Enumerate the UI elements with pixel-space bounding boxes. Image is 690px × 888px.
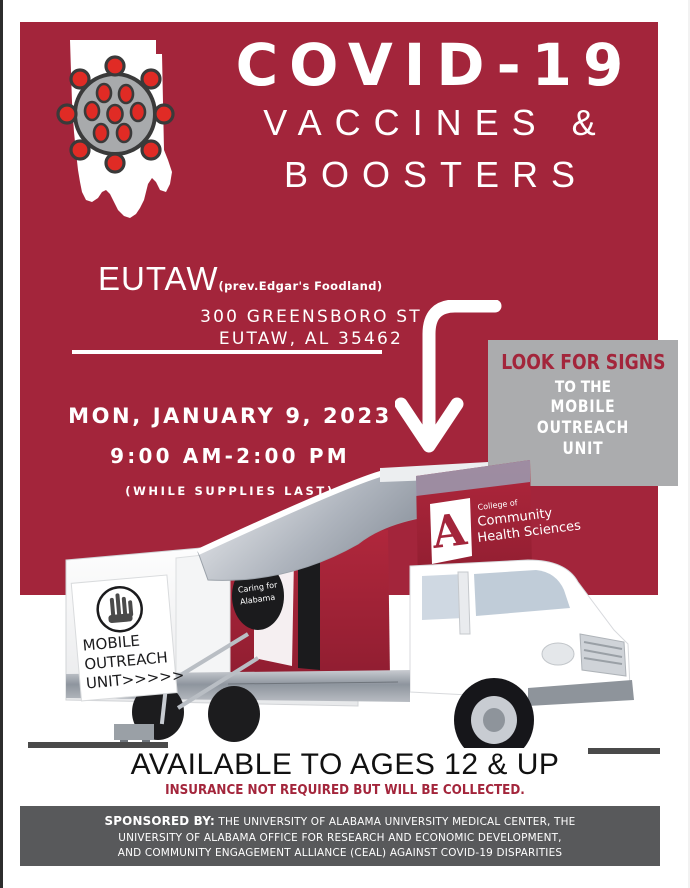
divider-white [72,350,382,354]
sponsor-footer-bar: SPONSORED BY: THE UNIVERSITY OF ALABAMA … [20,806,660,866]
venue-headline: EUTAW(prev.Edgar's Foodland) [98,260,518,298]
venue-previous-name: (prev.Edgar's Foodland) [218,279,382,293]
sponsor-line-2: UNIVERSITY OF ALABAMA OFFICE FOR RESEARC… [36,830,644,846]
flyer-title-block: COVID-19 VACCINES & BOOSTERS [220,34,640,200]
venue-city-state-zip: EUTAW, AL 35462 [98,329,518,349]
sponsor-footer-text: SPONSORED BY: THE UNIVERSITY OF ALABAMA … [36,813,644,861]
callout-line-to-the: TO THE [501,377,664,396]
title-vaccines: VACCINES & [232,96,640,150]
callout-line-look-for-signs: LOOK FOR SIGNS [501,350,664,374]
sponsor-line-3: AND COMMUNITY ENGAGEMENT ALLIANCE (CEAL)… [36,845,644,861]
venue-street: 300 GREENSBORO ST [98,307,518,327]
eligibility-insurance-note: INSURANCE NOT REQUIRED BUT WILL BE COLLE… [28,783,663,798]
title-boosters: BOOSTERS [232,150,640,200]
venue-city: EUTAW [98,260,218,297]
callout-line-outreach: OUTREACH [505,418,661,438]
alabama-state-covid-virus-emblem [52,32,192,224]
sponsor-line-1: SPONSORED BY: THE UNIVERSITY OF ALABAMA … [36,813,644,830]
sponsor-text-1: THE UNIVERSITY OF ALABAMA UNIVERSITY MED… [215,815,576,828]
eligibility-ages: AVAILABLE TO AGES 12 & UP [0,748,690,782]
callout-line-mobile: MOBILE [505,397,661,417]
svg-text:A: A [428,504,470,559]
title-covid: COVID-19 [230,34,640,96]
mobile-outreach-unit-truck-photo: Caring for Alabama A College of Communit… [58,448,670,748]
sponsor-label: SPONSORED BY: [105,813,215,828]
schedule-date: MON, JANUARY 9, 2023 [60,404,400,428]
flyer-page: COVID-19 VACCINES & BOOSTERS EUTAW(prev.… [0,0,690,888]
venue-block: EUTAW(prev.Edgar's Foodland) 300 GREENSB… [98,260,518,349]
